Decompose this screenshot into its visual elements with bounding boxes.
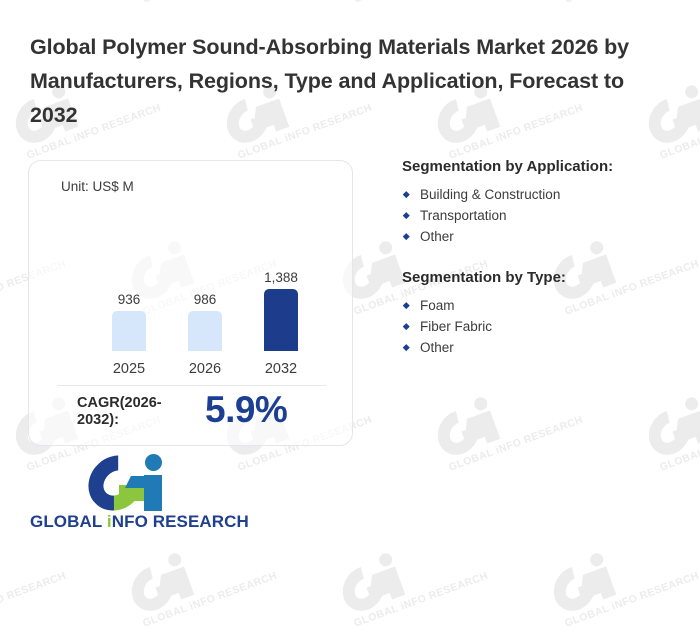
list-item-label: Building & Construction [420, 187, 560, 202]
list-item-label: Fiber Fabric [420, 319, 492, 334]
watermark-text: GLOBAL iNFO RESEARCH [563, 570, 700, 630]
cagr-label: CAGR(2026-2032): [77, 395, 173, 429]
bar-group-2026: 986 2026 [167, 219, 243, 379]
page-title: Global Polymer Sound-Absorbing Materials… [30, 30, 670, 132]
segmentation-application-block: Segmentation by Application: Building & … [402, 158, 682, 247]
bar-value-label: 986 [167, 292, 243, 307]
list-item-label: Other [420, 340, 454, 355]
gi-logo-icon [87, 455, 175, 513]
list-item-label: Foam [420, 298, 455, 313]
brand-logo: GLOBAL iNFO RESEARCH [30, 455, 240, 535]
list-item: Other [402, 226, 682, 247]
bar-category-label: 2025 [91, 361, 167, 377]
bullet-icon [403, 344, 409, 350]
list-item-label: Other [420, 229, 454, 244]
segmentation-type-block: Segmentation by Type: Foam Fiber Fabric … [402, 269, 682, 358]
bar-chart: 936 2025 986 2026 1,388 2032 [29, 219, 354, 379]
bar-category-label: 2032 [243, 361, 319, 377]
list-item: Transportation [402, 205, 682, 226]
bar-rect [112, 311, 146, 351]
bar-group-2032: 1,388 2032 [243, 219, 319, 379]
list-item-label: Transportation [420, 208, 507, 223]
segmentation-panel: Segmentation by Application: Building & … [402, 158, 682, 358]
bar-category-label: 2026 [167, 361, 243, 377]
cagr-row: CAGR(2026-2032): 5.9% [29, 393, 354, 447]
list-item: Fiber Fabric [402, 316, 682, 337]
unit-label: Unit: US$ M [61, 179, 134, 194]
market-stats-card: Unit: US$ M 936 2025 986 2026 1,388 2032… [28, 160, 353, 446]
bullet-icon [403, 302, 409, 308]
list-item: Other [402, 337, 682, 358]
watermark-text: GLOBAL iNFO RESEARCH [141, 570, 279, 630]
segmentation-type-list: Foam Fiber Fabric Other [402, 295, 682, 358]
bar-rect [188, 311, 222, 351]
watermark-text: GLOBAL iNFO RESEARCH [0, 570, 68, 630]
segmentation-type-heading: Segmentation by Type: [402, 269, 682, 286]
bullet-icon [403, 212, 409, 218]
cagr-value: 5.9% [205, 389, 287, 431]
brand-name: GLOBAL iNFO RESEARCH [30, 512, 240, 532]
page-root: Global Polymer Sound-Absorbing Materials… [0, 0, 700, 560]
cagr-divider [57, 385, 326, 386]
watermark-text: GLOBAL iNFO RESEARCH [352, 570, 490, 630]
segmentation-application-heading: Segmentation by Application: [402, 158, 682, 175]
bullet-icon [403, 191, 409, 197]
list-item: Foam [402, 295, 682, 316]
bar-value-label: 1,388 [243, 270, 319, 285]
bar-value-label: 936 [91, 292, 167, 307]
list-item: Building & Construction [402, 184, 682, 205]
bullet-icon [403, 233, 409, 239]
bar-rect [264, 289, 298, 351]
logo-i-stem [144, 475, 162, 511]
bar-group-2025: 936 2025 [91, 219, 167, 379]
logo-i-dot [145, 454, 162, 471]
bullet-icon [403, 323, 409, 329]
segmentation-application-list: Building & Construction Transportation O… [402, 184, 682, 247]
